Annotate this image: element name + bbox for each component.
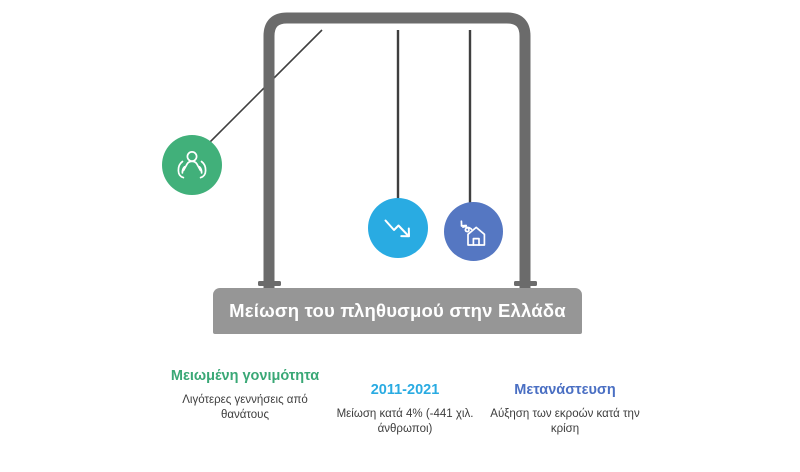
column-migration-heading: Μετανάστευση: [490, 382, 640, 400]
population-decline-infographic: Μείωση του πληθυσμού στην Ελλάδα Μειωμέν…: [0, 0, 800, 472]
column-fertility-heading: Μειωμένη γονιμότητα: [170, 368, 320, 386]
column-fertility-body: Λιγότερες γεννήσεις από θανάτους: [170, 393, 320, 424]
ball-fertility[interactable]: [162, 135, 222, 195]
child-in-hands-icon: [172, 145, 212, 185]
string-fertility: [200, 30, 322, 152]
column-period-body: Μείωση κατά 4% (-441 χιλ. άνθρωποι): [330, 407, 480, 438]
banner-title: Μείωση του πληθυσμού στην Ελλάδα: [229, 300, 566, 322]
frame-foot-right: [514, 281, 537, 286]
house-with-outgoing-arrow-icon: [455, 213, 493, 251]
column-fertility: Μειωμένη γονιμότητα Λιγότερες γεννήσεις …: [170, 368, 320, 423]
frame-foot-left: [258, 281, 281, 286]
column-period-heading: 2011-2021: [330, 382, 480, 400]
declining-arrow-icon: [379, 209, 417, 247]
column-period: 2011-2021 Μείωση κατά 4% (-441 χιλ. άνθρ…: [330, 368, 480, 437]
column-migration-body: Αύξηση των εκροών κατά την κρίση: [490, 407, 640, 438]
ball-migration[interactable]: [444, 202, 503, 261]
ball-population-decline[interactable]: [368, 198, 428, 258]
column-migration: Μετανάστευση Αύξηση των εκροών κατά την …: [490, 368, 640, 437]
columns: Μειωμένη γονιμότητα Λιγότερες γεννήσεις …: [170, 368, 640, 468]
banner: Μείωση του πληθυσμού στην Ελλάδα: [213, 288, 582, 334]
